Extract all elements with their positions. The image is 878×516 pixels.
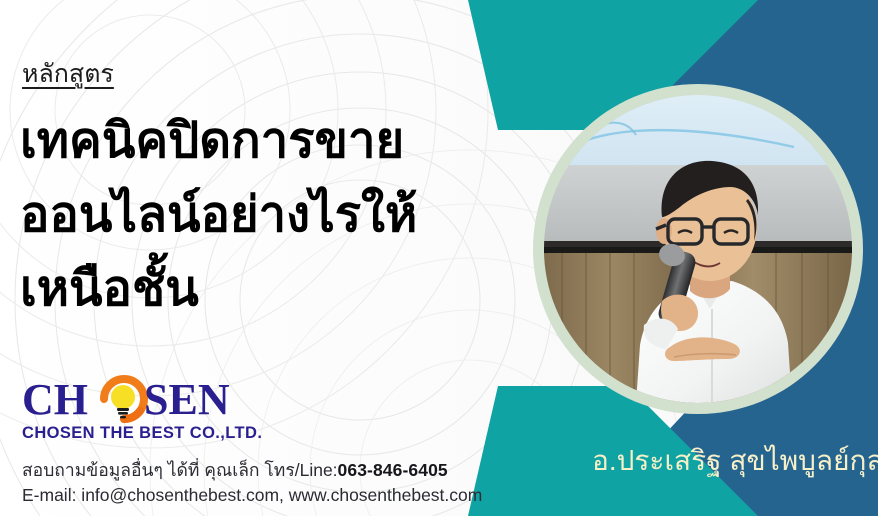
- speaker-name: อ.ประเสริฐ สุขไพบูลย์กุล: [592, 444, 878, 478]
- speaker-photo-frame: [533, 84, 863, 414]
- page-title: เทคนิคปิดการขาย ออนไลน์อย่างไรให้ เหนือช…: [20, 104, 540, 326]
- contact-phone-line: สอบถามข้อมูลอื่นๆ ได้ที่ คุณเล็ก โทร/Lin…: [22, 458, 482, 483]
- left-content-column: หลักสูตร เทคนิคปิดการขาย ออนไลน์อย่างไรใ…: [0, 0, 540, 516]
- logo-wordmark-right: SEN: [144, 375, 230, 423]
- headline-line-3: เหนือชั้น: [20, 252, 540, 326]
- contact-phone-number[interactable]: 063-846-6405: [338, 460, 448, 480]
- speaker-photo: [544, 95, 852, 403]
- course-kicker: หลักสูตร: [22, 62, 114, 87]
- logo-wordmark-row: CH SEN: [22, 375, 272, 423]
- headline-line-1: เทคนิคปิดการขาย: [20, 104, 540, 178]
- company-logo: CH SEN CHOSEN THE BEST CO.,LTD.: [22, 375, 272, 443]
- headline-line-2: ออนไลน์อย่างไรให้: [20, 178, 540, 252]
- logo-tagline: CHOSEN THE BEST CO.,LTD.: [22, 424, 272, 443]
- contact-phone-prefix: สอบถามข้อมูลอื่นๆ ได้ที่ คุณเล็ก โทร/Lin…: [22, 460, 338, 480]
- logo-wordmark-left: CH: [22, 375, 88, 423]
- course-promotion-banner: หลักสูตร เทคนิคปิดการขาย ออนไลน์อย่างไรใ…: [0, 0, 878, 516]
- contact-info: สอบถามข้อมูลอื่นๆ ได้ที่ คุณเล็ก โทร/Lin…: [22, 458, 482, 508]
- contact-email-line[interactable]: E-mail: info@chosenthebest.com, www.chos…: [22, 483, 482, 508]
